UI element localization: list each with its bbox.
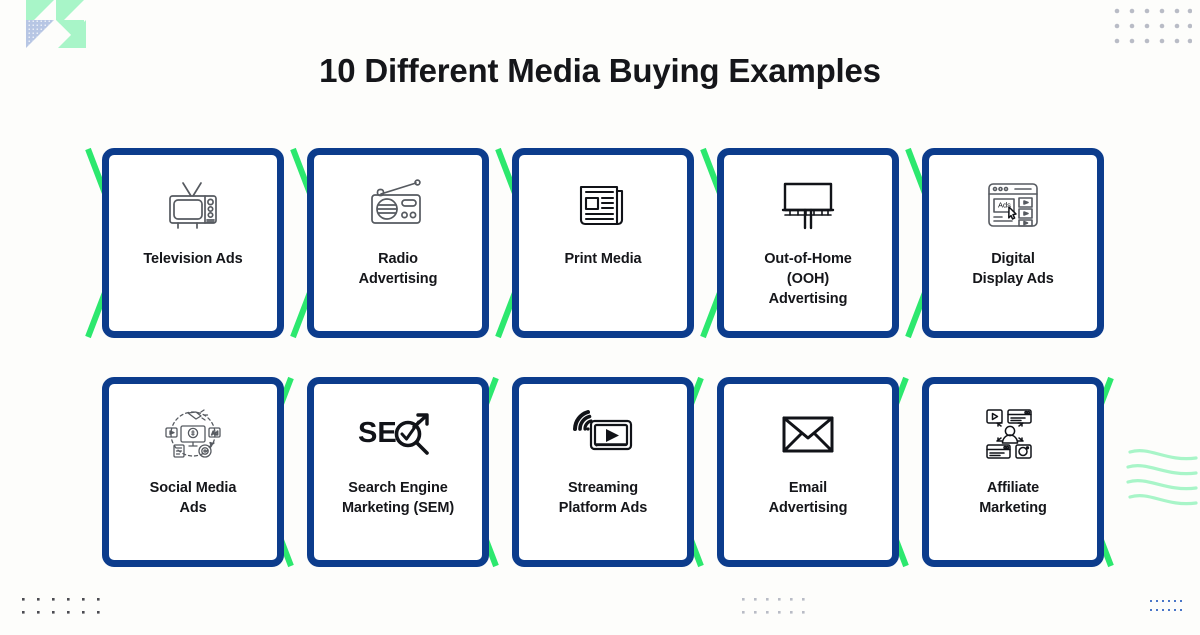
card-label: Television Ads bbox=[113, 249, 273, 269]
card-label: Search Engine Marketing (SEM) bbox=[318, 478, 478, 518]
newspaper-icon bbox=[577, 177, 629, 233]
card-label: Out-of-Home (OOH) Advertising bbox=[728, 249, 888, 309]
card-cell: Email Advertising bbox=[703, 377, 908, 573]
social-media-network-icon: Ad bbox=[162, 406, 224, 462]
bottom-center-dot-grid-decoration bbox=[742, 596, 808, 623]
card-label: Email Advertising bbox=[728, 478, 888, 518]
radio-icon bbox=[368, 177, 428, 233]
card-cell: Television Ads bbox=[88, 148, 293, 344]
envelope-icon bbox=[781, 406, 835, 462]
card-cell: Affiliate Marketing bbox=[908, 377, 1113, 573]
svg-text:Ad: Ad bbox=[212, 431, 219, 437]
bottom-right-dot-grid-decoration bbox=[1150, 598, 1184, 621]
card-cell: Streaming Platform Ads bbox=[498, 377, 703, 573]
card-cell: SE Search Engine Marketing (SEM) bbox=[293, 377, 498, 573]
page-title: 10 Different Media Buying Examples bbox=[0, 52, 1200, 90]
card-cell: Print Media bbox=[498, 148, 703, 344]
card-streaming-platform-ads[interactable]: Streaming Platform Ads bbox=[512, 377, 694, 567]
card-cell: Ads Digital Display Ads bbox=[908, 148, 1113, 344]
svg-text:Ads: Ads bbox=[998, 201, 1011, 210]
card-television-ads[interactable]: Television Ads bbox=[102, 148, 284, 338]
card-row-top: Television Ads bbox=[0, 148, 1200, 344]
affiliate-network-icon bbox=[982, 406, 1044, 462]
card-radio-advertising[interactable]: Radio Advertising bbox=[307, 148, 489, 338]
card-label: Affiliate Marketing bbox=[933, 478, 1093, 518]
streaming-play-icon bbox=[571, 406, 635, 462]
card-affiliate-marketing[interactable]: Affiliate Marketing bbox=[922, 377, 1104, 567]
card-email-advertising[interactable]: Email Advertising bbox=[717, 377, 899, 567]
card-label: Radio Advertising bbox=[318, 249, 478, 289]
card-label: Social Media Ads bbox=[113, 478, 273, 518]
card-out-of-home-advertising[interactable]: Out-of-Home (OOH) Advertising bbox=[717, 148, 899, 338]
card-search-engine-marketing[interactable]: SE Search Engine Marketing (SEM) bbox=[307, 377, 489, 567]
card-cell: Out-of-Home (OOH) Advertising bbox=[703, 148, 908, 344]
card-label: Digital Display Ads bbox=[933, 249, 1093, 289]
card-cell: Radio Advertising bbox=[293, 148, 498, 344]
card-row-bottom: Ad Social Media Ads bbox=[0, 377, 1200, 573]
card-social-media-ads[interactable]: Ad Social Media Ads bbox=[102, 377, 284, 567]
television-icon bbox=[165, 177, 221, 233]
card-label: Streaming Platform Ads bbox=[523, 478, 683, 518]
top-right-dot-grid-decoration bbox=[1112, 6, 1192, 53]
card-label: Print Media bbox=[523, 249, 683, 269]
card-print-media[interactable]: Print Media bbox=[512, 148, 694, 338]
seo-magnifier-icon: SE bbox=[356, 406, 440, 462]
bottom-left-dot-grid-decoration bbox=[22, 596, 108, 623]
infographic-canvas: 10 Different Media Buying Examples bbox=[0, 0, 1200, 635]
svg-text:SE: SE bbox=[358, 417, 397, 449]
billboard-icon bbox=[780, 177, 836, 233]
card-digital-display-ads[interactable]: Ads Digital Display Ads bbox=[922, 148, 1104, 338]
card-cell: Ad Social Media Ads bbox=[88, 377, 293, 573]
browser-ads-icon: Ads bbox=[985, 177, 1041, 233]
